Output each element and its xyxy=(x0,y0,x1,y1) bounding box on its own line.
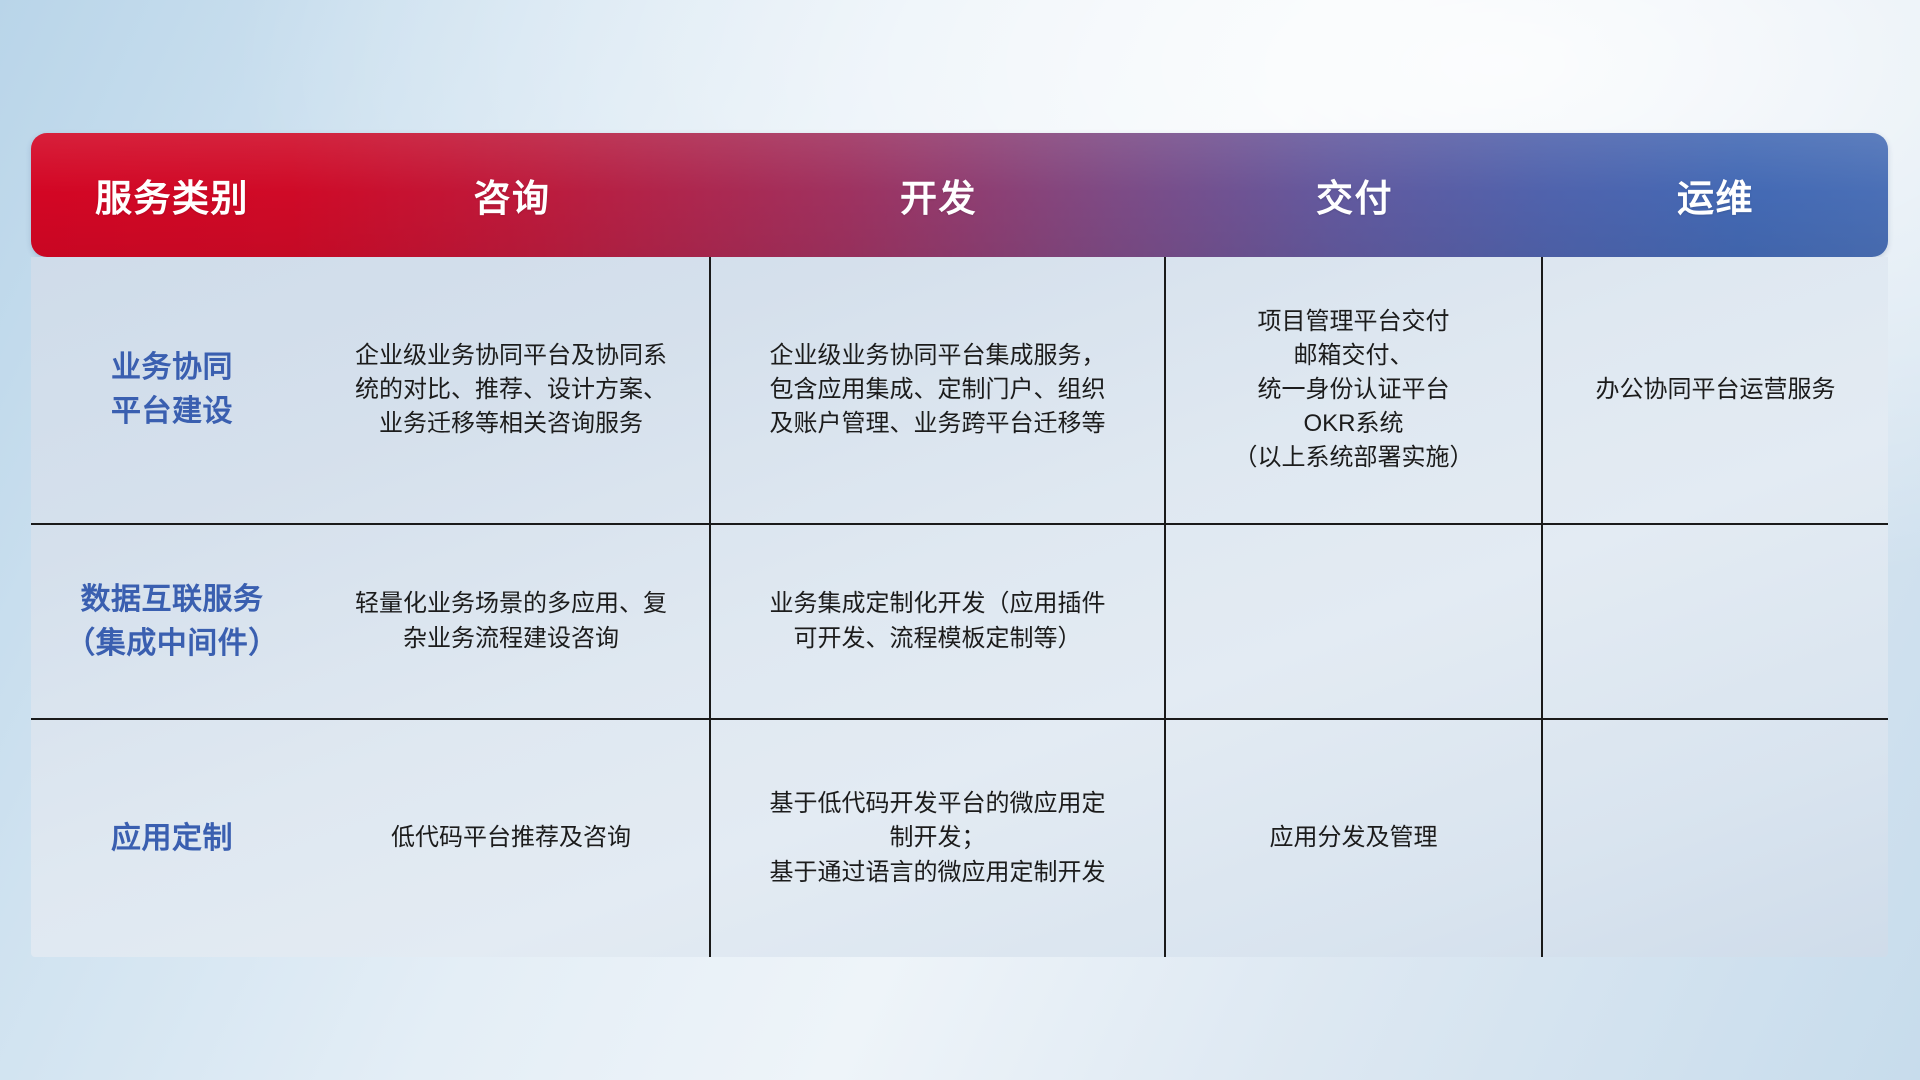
row-category-cell: 应用定制 xyxy=(31,720,313,957)
table-header-row: 服务类别 咨询 开发 交付 运维 xyxy=(31,133,1888,257)
cell-consulting: 低代码平台推荐及咨询 xyxy=(313,720,711,957)
cell-operations: 办公协同平台运营服务 xyxy=(1543,257,1888,523)
cell-delivery: 应用分发及管理 xyxy=(1166,720,1543,957)
table-row: 数据互联服务 （集成中间件） 轻量化业务场景的多应用、复 杂业务流程建设咨询 业… xyxy=(31,525,1888,720)
cell-consulting: 轻量化业务场景的多应用、复 杂业务流程建设咨询 xyxy=(313,525,711,718)
category-label: 数据互联服务 （集成中间件） xyxy=(65,578,279,666)
table-row: 业务协同 平台建设 企业级业务协同平台及协同系 统的对比、推荐、设计方案、 业务… xyxy=(31,257,1888,525)
table-row: 应用定制 低代码平台推荐及咨询 基于低代码开发平台的微应用定 制开发； 基于通过… xyxy=(31,720,1888,957)
column-header-delivery: 交付 xyxy=(1166,168,1543,222)
category-label: 业务协同 平台建设 xyxy=(111,346,233,434)
cell-delivery: 项目管理平台交付 邮箱交付、 统一身份认证平台 OKR系统 （以上系统部署实施） xyxy=(1166,257,1543,523)
cell-development: 业务集成定制化开发（应用插件 可开发、流程模板定制等） xyxy=(711,525,1166,718)
cell-development: 基于低代码开发平台的微应用定 制开发； 基于通过语言的微应用定制开发 xyxy=(711,720,1166,957)
cell-operations xyxy=(1543,720,1888,957)
column-header-consulting: 咨询 xyxy=(313,168,711,222)
cell-operations xyxy=(1543,525,1888,718)
cell-development: 企业级业务协同平台集成服务， 包含应用集成、定制门户、组织 及账户管理、业务跨平… xyxy=(711,257,1166,523)
row-category-cell: 数据互联服务 （集成中间件） xyxy=(31,525,313,718)
cell-consulting: 企业级业务协同平台及协同系 统的对比、推荐、设计方案、 业务迁移等相关咨询服务 xyxy=(313,257,711,523)
column-header-operations: 运维 xyxy=(1543,168,1888,222)
slide-canvas: 服务类别 咨询 开发 交付 运维 业务协同 平台建设 企业级业务协同平台及协同系… xyxy=(0,0,1920,1080)
category-label: 应用定制 xyxy=(111,817,233,861)
service-category-table: 服务类别 咨询 开发 交付 运维 业务协同 平台建设 企业级业务协同平台及协同系… xyxy=(31,133,1888,957)
table-body: 业务协同 平台建设 企业级业务协同平台及协同系 统的对比、推荐、设计方案、 业务… xyxy=(31,257,1888,957)
cell-delivery xyxy=(1166,525,1543,718)
column-header-development: 开发 xyxy=(711,168,1166,222)
column-header-service-category: 服务类别 xyxy=(31,168,313,222)
row-category-cell: 业务协同 平台建设 xyxy=(31,257,313,523)
